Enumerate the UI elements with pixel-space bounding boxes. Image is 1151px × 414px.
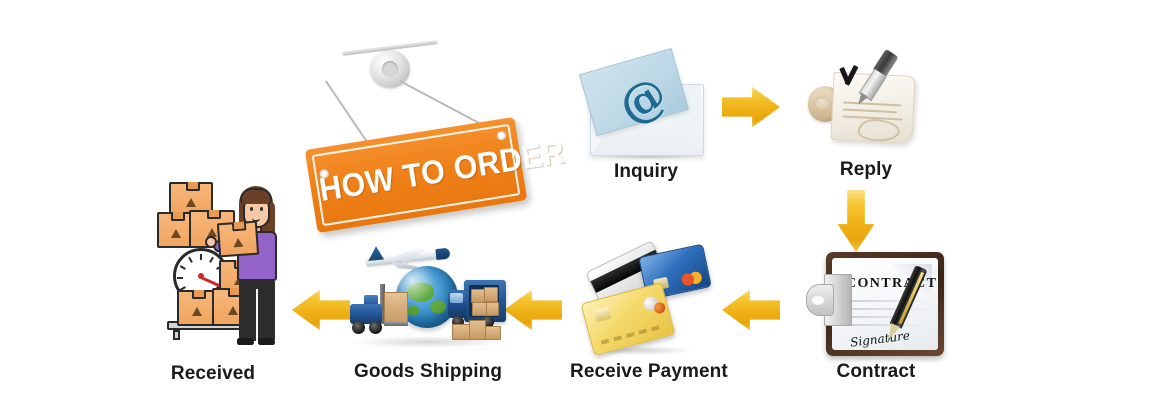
card-number-line bbox=[601, 324, 663, 344]
arrow-left-contract-to-payment-icon bbox=[722, 288, 780, 332]
step-label-contract: Contract bbox=[806, 362, 946, 381]
forklift-wheel bbox=[369, 321, 382, 334]
cargo-box bbox=[486, 302, 499, 316]
warehouse-worker-icon bbox=[227, 186, 285, 344]
worker-hand bbox=[205, 236, 217, 248]
worker-shoe bbox=[237, 338, 254, 345]
contract-text-line bbox=[845, 308, 929, 310]
clipboard-clamp-icon bbox=[806, 274, 850, 324]
scale-foot bbox=[173, 330, 180, 340]
card-logo bbox=[653, 301, 666, 314]
arrow-shape bbox=[836, 190, 876, 252]
scroll-stamp-icon bbox=[857, 118, 900, 142]
how-to-order-sign: HOW TO ORDER bbox=[296, 38, 536, 238]
worker-shoe bbox=[258, 338, 275, 345]
scale-tick bbox=[200, 254, 202, 260]
forklift-icon bbox=[350, 284, 406, 336]
scale-tick bbox=[188, 257, 193, 263]
worker-fringe bbox=[240, 188, 272, 204]
sign-board: HOW TO ORDER bbox=[305, 117, 528, 233]
cargo-box bbox=[471, 289, 485, 303]
contract-signature: Signature bbox=[849, 328, 910, 349]
step-label-inquiry: Inquiry bbox=[580, 162, 712, 181]
cargo-box bbox=[472, 302, 487, 316]
plane-nose bbox=[435, 248, 450, 260]
forklift-fork bbox=[384, 322, 408, 326]
worker-eye bbox=[260, 207, 263, 211]
contract-text-line bbox=[845, 324, 925, 326]
step-received-icon bbox=[155, 178, 285, 358]
clamp-tab bbox=[806, 284, 834, 316]
card-chip bbox=[594, 307, 612, 322]
step-contract-icon: CONTRACT Signature bbox=[806, 250, 946, 360]
step-label-goods-shipping: Goods Shipping bbox=[348, 362, 508, 381]
arrow-shape bbox=[292, 288, 350, 332]
scale-tick bbox=[180, 265, 186, 270]
arrow-shape bbox=[722, 288, 780, 332]
arrow-down-reply-to-contract-icon bbox=[836, 190, 876, 252]
cargo-box bbox=[469, 320, 486, 340]
scale-tick bbox=[177, 277, 183, 279]
sign-title: HOW TO ORDER bbox=[317, 141, 516, 209]
step-inquiry-icon: @ bbox=[580, 56, 712, 156]
step-receive-payment-icon bbox=[580, 248, 710, 358]
step-reply-icon bbox=[806, 50, 926, 150]
sign-eyelet-right-icon bbox=[496, 131, 506, 141]
step-label-receive-payment: Receive Payment bbox=[570, 362, 725, 381]
step-label-received: Received bbox=[148, 364, 278, 383]
step-goods-shipping-icon bbox=[348, 244, 508, 356]
step-label-reply: Reply bbox=[806, 160, 926, 179]
cargo-box bbox=[485, 326, 501, 340]
arrow-left-payment-to-shipping-icon bbox=[504, 288, 562, 332]
scale-hub bbox=[198, 273, 204, 279]
scale-tick bbox=[209, 257, 214, 263]
held-box bbox=[217, 221, 259, 258]
truck-window bbox=[450, 293, 463, 303]
scroll-text-line bbox=[843, 101, 901, 106]
card-logo bbox=[681, 270, 703, 288]
platform-box bbox=[177, 290, 217, 326]
cargo-box bbox=[452, 324, 470, 340]
forklift-wheel bbox=[352, 321, 365, 334]
arrow-right-inquiry-to-reply-icon bbox=[722, 85, 780, 129]
arrow-shape bbox=[504, 288, 562, 332]
truck-cab bbox=[448, 290, 466, 318]
scroll-text-line bbox=[843, 108, 897, 113]
arrow-left-shipping-to-received-icon bbox=[292, 288, 350, 332]
arrow-shape bbox=[722, 85, 780, 129]
cargo-box bbox=[484, 287, 498, 302]
worker-eye bbox=[250, 207, 253, 211]
worker-legs bbox=[239, 279, 275, 341]
truck-cargo-interior bbox=[469, 285, 499, 317]
forklift-load-box bbox=[384, 292, 408, 324]
how-to-order-infographic: HOW TO ORDER @ Inquiry Reply bbox=[0, 0, 1151, 414]
